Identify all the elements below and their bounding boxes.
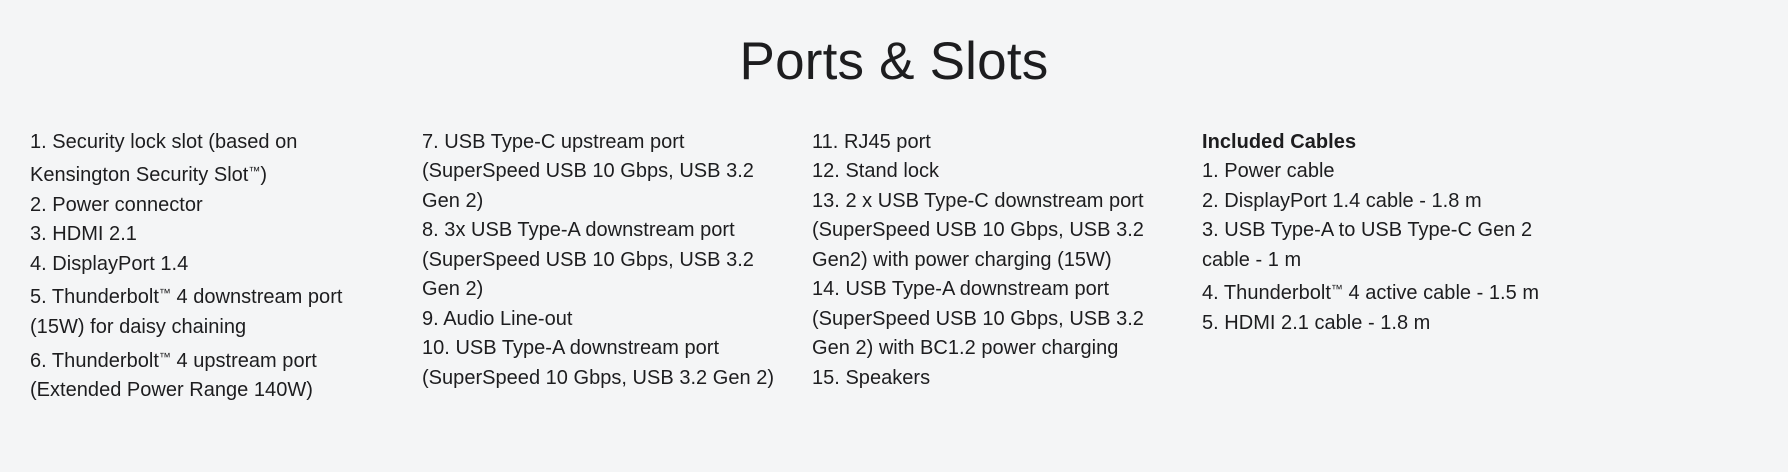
list-item: 7. USB Type-C upstream port (SuperSpeed … (422, 128, 784, 217)
list-item: 10. USB Type-A downstream port (SuperSpe… (422, 334, 784, 393)
list-item: 12. Stand lock (812, 157, 1174, 187)
trademark-symbol: ™ (159, 350, 171, 364)
list-item: 2. Power connector (30, 191, 394, 221)
list-item: 8. 3x USB Type-A downstream port (SuperS… (422, 216, 784, 305)
list-item: 4. DisplayPort 1.4 (30, 250, 394, 280)
list-item: 14. USB Type-A downstream port (SuperSpe… (812, 275, 1174, 364)
list-item: 15. Speakers (812, 364, 1174, 394)
list-item: 2. DisplayPort 1.4 cable - 1.8 m (1202, 187, 1574, 217)
list-item: 6. Thunderbolt™ 4 upstream port (Extende… (30, 343, 394, 406)
list-item: 3. USB Type-A to USB Type-C Gen 2 cable … (1202, 216, 1574, 275)
page-title: Ports & Slots (0, 0, 1788, 94)
included-cables-heading: Included Cables (1202, 128, 1574, 158)
list-item: 5. Thunderbolt™ 4 downstream port (15W) … (30, 279, 394, 342)
trademark-symbol: ™ (248, 164, 260, 178)
trademark-symbol: ™ (159, 286, 171, 300)
included-cables-list: 1. Power cable 2. DisplayPort 1.4 cable … (1202, 157, 1574, 338)
ports-list-3: 11. RJ45 port 12. Stand lock 13. 2 x USB… (812, 128, 1174, 394)
included-cables-column: Included Cables 1. Power cable 2. Displa… (1202, 128, 1602, 339)
ports-list-1: 1. Security lock slot (based on Kensingt… (30, 128, 394, 406)
list-item: 13. 2 x USB Type-C downstream port (Supe… (812, 187, 1174, 276)
list-item: 11. RJ45 port (812, 128, 1174, 158)
spec-columns: 1. Security lock slot (based on Kensingt… (0, 128, 1788, 406)
list-item: 9. Audio Line-out (422, 305, 784, 335)
list-item: 1. Security lock slot (based on Kensingt… (30, 128, 394, 191)
list-item: 5. HDMI 2.1 cable - 1.8 m (1202, 309, 1574, 339)
list-item: 1. Power cable (1202, 157, 1574, 187)
list-item: 3. HDMI 2.1 (30, 220, 394, 250)
ports-column-1: 1. Security lock slot (based on Kensingt… (30, 128, 422, 406)
ports-list-2: 7. USB Type-C upstream port (SuperSpeed … (422, 128, 784, 394)
trademark-symbol: ™ (1331, 282, 1343, 296)
ports-and-slots-page: Ports & Slots 1. Security lock slot (bas… (0, 0, 1788, 472)
ports-column-3: 11. RJ45 port 12. Stand lock 13. 2 x USB… (812, 128, 1202, 394)
list-item: 4. Thunderbolt™ 4 active cable - 1.5 m (1202, 275, 1574, 309)
ports-column-2: 7. USB Type-C upstream port (SuperSpeed … (422, 128, 812, 394)
